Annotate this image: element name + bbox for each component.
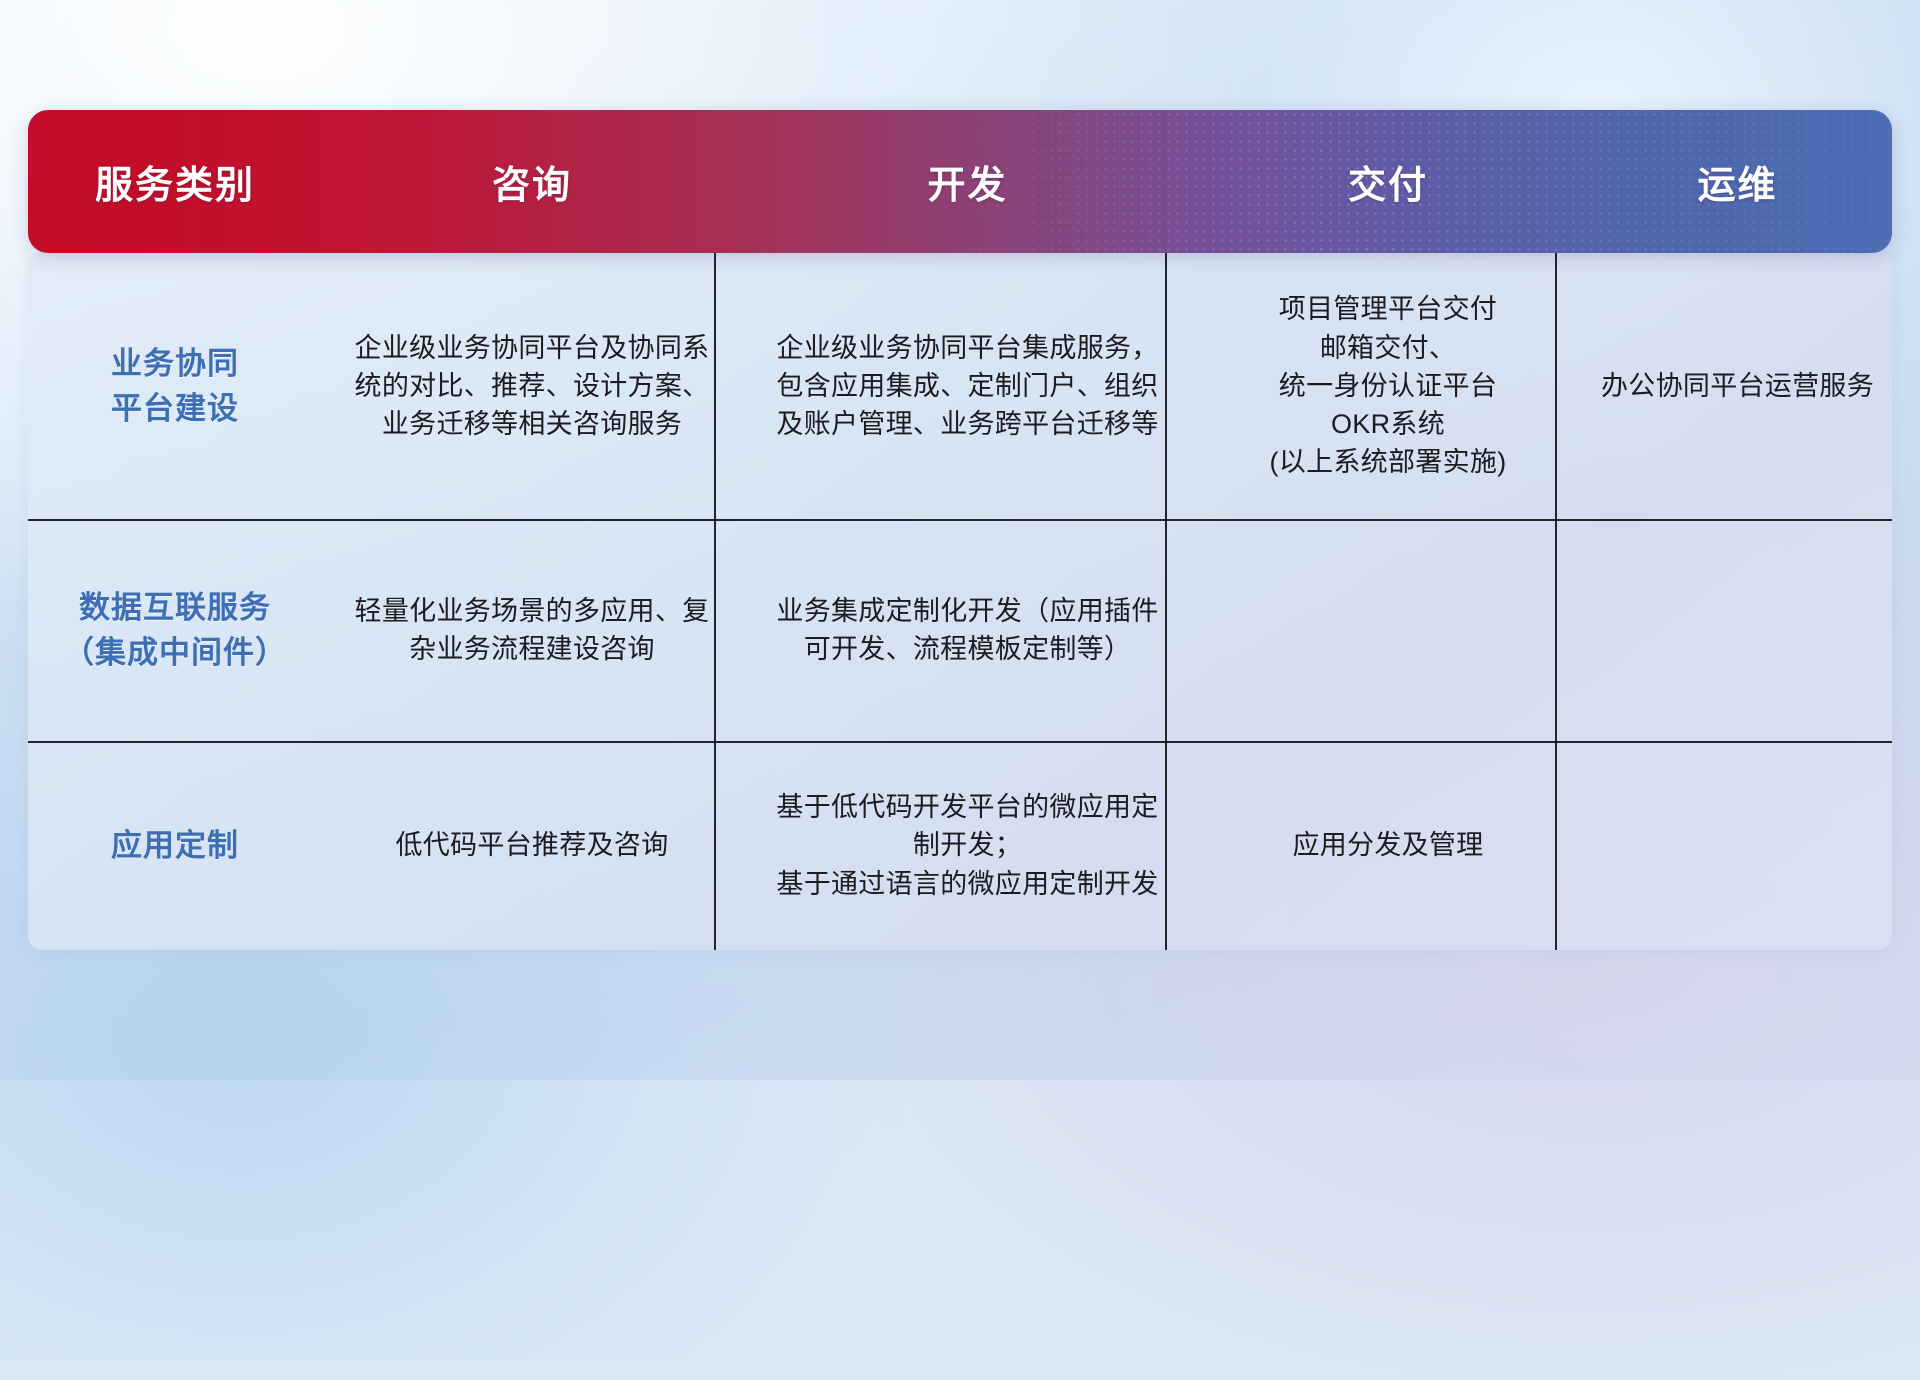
row-divider-2 — [28, 741, 1892, 743]
cell-delivery-r2 — [1193, 519, 1583, 741]
cell-development-r3: 基于低代码开发平台的微应用定 制开发； 基于通过语言的微应用定制开发 — [742, 741, 1193, 950]
cell-text: 应用分发及管理 — [1292, 826, 1483, 864]
column-header-development[interactable]: 开发 — [742, 110, 1193, 253]
table-row: 数据互联服务 （集成中间件） 轻量化业务场景的多应用、复 杂业务流程建设咨询 业… — [28, 519, 1892, 741]
row-label-text: 数据互联服务 （集成中间件） — [63, 585, 287, 676]
cell-consulting-r1: 企业级业务协同平台及协同系 统的对比、推荐、设计方案、 业务迁移等相关咨询服务 — [322, 253, 742, 519]
column-divider-2 — [1165, 253, 1167, 950]
cell-operations-r3 — [1583, 741, 1892, 950]
cell-delivery-r3: 应用分发及管理 — [1193, 741, 1583, 950]
column-header-service-category[interactable]: 服务类别 — [28, 110, 322, 253]
cell-operations-r1: 办公协同平台运营服务 — [1583, 253, 1892, 519]
cell-consulting-r3: 低代码平台推荐及咨询 — [322, 741, 742, 950]
cell-text: 业务集成定制化开发（应用插件 可开发、流程模板定制等） — [776, 592, 1158, 669]
row-label-cell-data-interconnect-service: 数据互联服务 （集成中间件） — [28, 519, 322, 741]
column-divider-3 — [1555, 253, 1557, 950]
row-label-text: 业务协同 平台建设 — [111, 341, 239, 432]
table-row: 应用定制 低代码平台推荐及咨询 基于低代码开发平台的微应用定 制开发； 基于通过… — [28, 741, 1892, 950]
cell-development-r2: 业务集成定制化开发（应用插件 可开发、流程模板定制等） — [742, 519, 1193, 741]
cell-text: 低代码平台推荐及咨询 — [396, 826, 669, 864]
table-header-bar: 服务类别 咨询 开发 交付 运维 — [28, 110, 1892, 253]
column-header-operations[interactable]: 运维 — [1583, 110, 1892, 253]
row-divider-1 — [28, 519, 1892, 521]
cell-text: 企业级业务协同平台及协同系 统的对比、推荐、设计方案、 业务迁移等相关咨询服务 — [355, 329, 710, 444]
cell-consulting-r2: 轻量化业务场景的多应用、复 杂业务流程建设咨询 — [322, 519, 742, 741]
table-row: 业务协同 平台建设 企业级业务协同平台及协同系 统的对比、推荐、设计方案、 业务… — [28, 253, 1892, 519]
column-divider-1 — [714, 253, 716, 950]
cell-text: 基于低代码开发平台的微应用定 制开发； 基于通过语言的微应用定制开发 — [776, 788, 1158, 903]
cell-operations-r2 — [1583, 519, 1892, 741]
row-label-text: 应用定制 — [111, 823, 239, 868]
column-header-consulting[interactable]: 咨询 — [322, 110, 742, 253]
cell-development-r1: 企业级业务协同平台集成服务， 包含应用集成、定制门户、组织 及账户管理、业务跨平… — [742, 253, 1193, 519]
column-header-delivery[interactable]: 交付 — [1193, 110, 1583, 253]
cell-text: 轻量化业务场景的多应用、复 杂业务流程建设咨询 — [355, 592, 710, 669]
cell-delivery-r1: 项目管理平台交付 邮箱交付、 统一身份认证平台 OKR系统 (以上系统部署实施) — [1193, 253, 1583, 519]
cell-text: 办公协同平台运营服务 — [1601, 367, 1874, 405]
row-label-cell-application-customization: 应用定制 — [28, 741, 322, 950]
table-header-row: 服务类别 咨询 开发 交付 运维 — [28, 110, 1892, 253]
cell-text: 项目管理平台交付 邮箱交付、 统一身份认证平台 OKR系统 (以上系统部署实施) — [1270, 290, 1507, 482]
cell-text: 企业级业务协同平台集成服务， 包含应用集成、定制门户、组织 及账户管理、业务跨平… — [776, 329, 1158, 444]
row-label-cell-business-collaboration-platform: 业务协同 平台建设 — [28, 253, 322, 519]
service-matrix-table: 服务类别 咨询 开发 交付 运维 业务协同 平台建设 企业级业务协同平台及协同系… — [28, 110, 1892, 950]
